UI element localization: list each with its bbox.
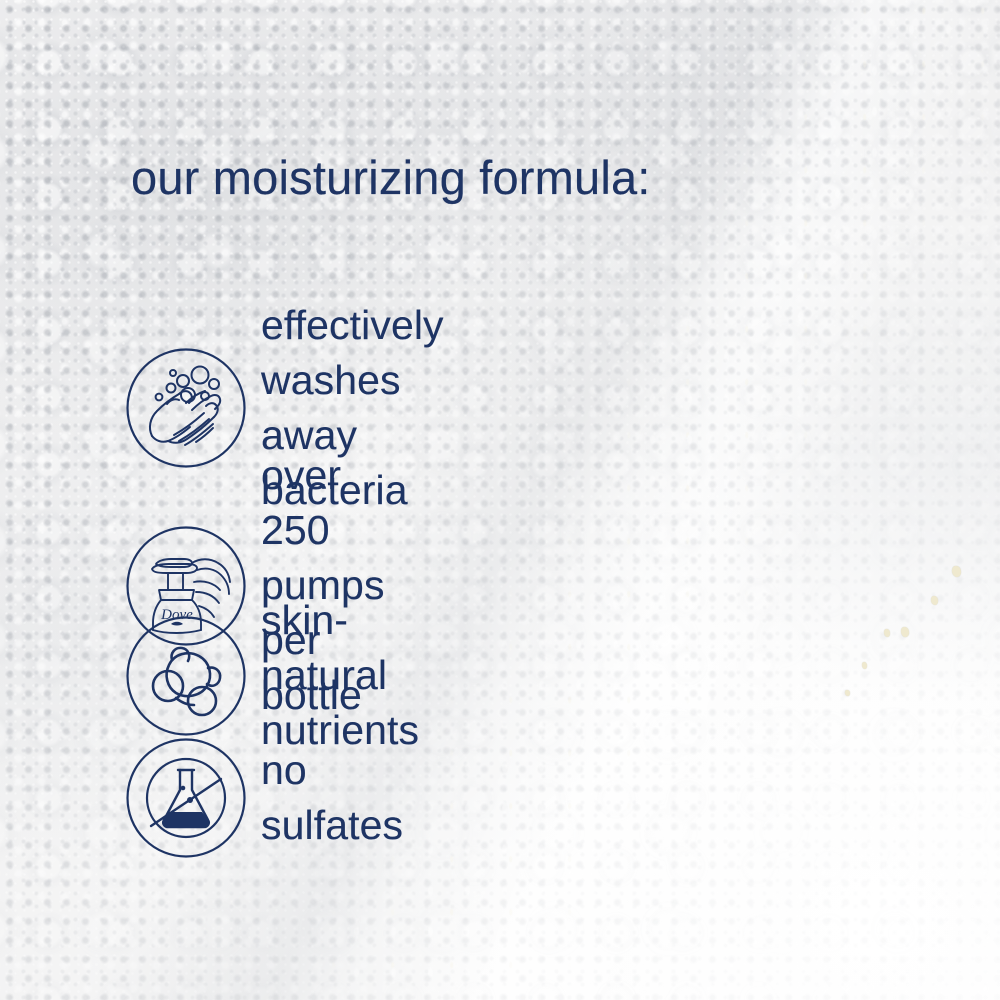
promo-panel: our moisturizing formula: <box>0 0 1000 1000</box>
list-item-label: no sulfates <box>261 743 403 853</box>
page-title: our moisturizing formula: <box>131 154 651 201</box>
panel-content: our moisturizing formula: <box>0 0 1000 1000</box>
nutrient-molecule-icon <box>126 616 246 736</box>
list-item: skin-natural nutrients <box>126 593 419 758</box>
no-sulfates-flask-crossed-out-icon <box>126 738 246 858</box>
list-item-label: skin-natural nutrients <box>261 593 419 758</box>
list-item: no sulfates <box>126 738 403 858</box>
